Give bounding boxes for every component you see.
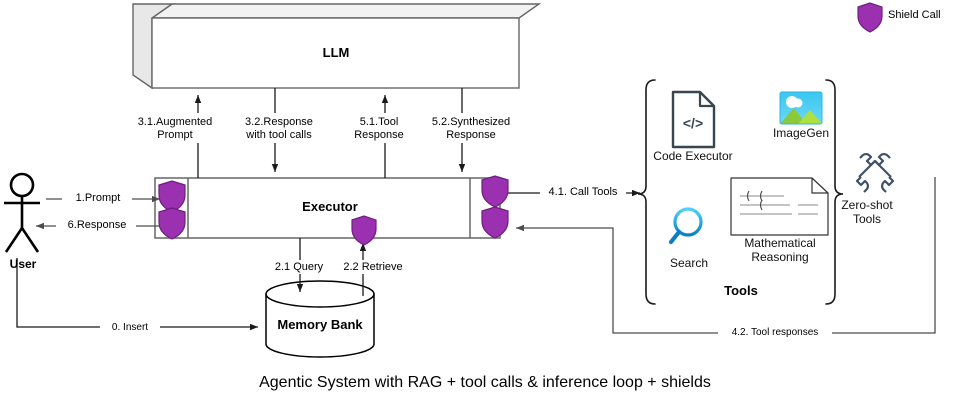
node-label-executor: Executor bbox=[280, 200, 380, 213]
legend-shield-icon bbox=[858, 3, 882, 32]
diagram-canvas: </> bbox=[0, 0, 970, 411]
node-label-memory-bank: Memory Bank bbox=[270, 318, 370, 331]
edge-label-5-2: 5.2.Synthesized Response bbox=[420, 116, 522, 142]
tools-group-label: Tools bbox=[707, 283, 775, 298]
edge-label-2-1-query: 2.1 Query bbox=[266, 261, 332, 274]
tool-label-imagegen: ImageGen bbox=[761, 126, 841, 140]
edge-label-6-response: 6.Response bbox=[52, 219, 142, 232]
formula-document-icon bbox=[731, 178, 828, 235]
tool-label-search: Search bbox=[658, 256, 720, 270]
edge-0-insert bbox=[17, 258, 258, 327]
edge-label-4-1-call-tools: 4.1. Call Tools bbox=[538, 186, 628, 199]
edge-label-4-2-tool-responses: 4.2. Tool responses bbox=[716, 326, 834, 339]
svg-text:</>: </> bbox=[683, 115, 703, 131]
tool-label-zero-shot-tools: Zero-shot Tools bbox=[836, 198, 898, 226]
diagram-svg: </> bbox=[0, 0, 970, 411]
tool-label-code-executor: Code Executor bbox=[648, 149, 738, 163]
edge-label-2-2-retrieve: 2.2 Retrieve bbox=[332, 261, 414, 274]
edge-label-0-insert: 0. Insert bbox=[98, 321, 162, 334]
shield-center bbox=[352, 216, 376, 245]
magnifier-icon bbox=[671, 209, 701, 242]
crossed-wrenches-icon bbox=[857, 154, 893, 192]
edge-label-3-1: 3.1.Augmented Prompt bbox=[135, 116, 215, 142]
edge-label-1-prompt: 1.Prompt bbox=[60, 192, 136, 205]
node-label-llm: LLM bbox=[286, 46, 386, 59]
diagram-caption: Agentic System with RAG + tool calls & i… bbox=[0, 374, 970, 392]
node-user[interactable] bbox=[4, 174, 40, 252]
edge-label-3-2: 3.2.Response with tool calls bbox=[233, 116, 325, 142]
edge-label-5-1: 5.1.Tool Response bbox=[344, 116, 414, 142]
tool-label-mathematical-reasoning: Mathematical Reasoning bbox=[722, 236, 838, 264]
imagegen-icon bbox=[780, 92, 822, 124]
node-label-user: User bbox=[0, 258, 46, 271]
code-executor-icon: </> bbox=[673, 92, 714, 147]
legend-shield-label: Shield Call bbox=[888, 9, 941, 21]
